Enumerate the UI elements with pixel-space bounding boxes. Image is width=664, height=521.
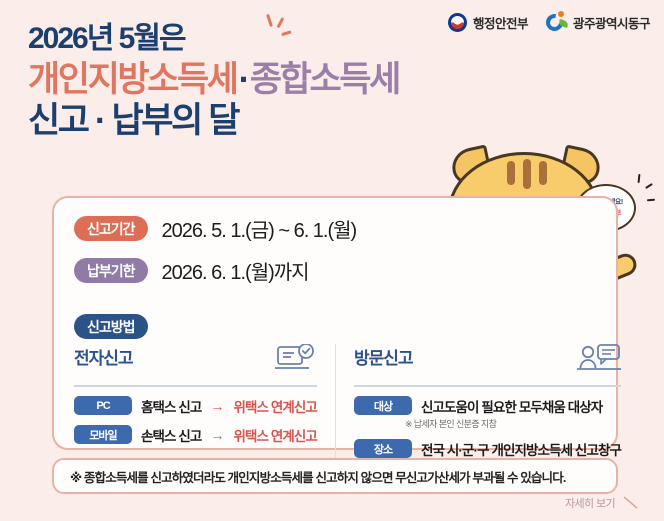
person-speech-icon xyxy=(577,344,621,379)
arrow-right-icon: → xyxy=(210,428,224,442)
filing-text-pc: 홈택스 신고 xyxy=(141,396,201,416)
filing-row-pc: PC 홈택스 신고 → 위택스 연계신고 xyxy=(74,396,317,416)
arrow-diagonal-icon xyxy=(622,496,642,510)
schedule-label-period: 신고기간 xyxy=(74,216,148,241)
filing-badge-mobile: 모바일 xyxy=(74,425,132,444)
filing-text-mobile: 손택스 신고 xyxy=(141,425,201,445)
filing-row-mobile: 모바일 손택스 신고 → 위택스 연계신고 xyxy=(74,425,317,445)
headline-tax-local: 개인지방소득세 xyxy=(28,60,237,99)
gwangju-donggu-logo-icon xyxy=(546,12,567,33)
visit-row-target: 대상 신고도움이 필요한 모두채움 대상자 ※ 납세자 본인 신분증 지참 xyxy=(354,396,621,430)
logo-moi: 행정안전부 xyxy=(448,13,528,32)
column-title-visit: 방문신고 xyxy=(354,344,413,369)
column-visit-filing: 방문신고 xyxy=(335,344,621,459)
info-card: 신고기간 2026. 5. 1.(금) ~ 6. 1.(월) 납부기한 2026… xyxy=(52,196,618,450)
logo-bar: 행정안전부 광주광역시동구 xyxy=(448,12,650,33)
visit-text-target: 신고도움이 필요한 모두채움 대상자 xyxy=(421,396,602,416)
logo-moi-label: 행정안전부 xyxy=(473,13,528,32)
moi-taegeuk-logo-icon xyxy=(448,13,467,32)
filing-text-mobile-target: 위택스 연계신고 xyxy=(233,425,317,445)
headline-tax-global: 종합소득세 xyxy=(250,60,399,99)
schedule-list: 신고기간 2026. 5. 1.(금) ~ 6. 1.(월) 납부기한 2026… xyxy=(74,214,356,285)
headline-line-1: 2026년 5월은 xyxy=(28,24,399,54)
headline-line-2: 개인지방소득세·종합소득세 xyxy=(28,60,399,99)
arrow-right-icon: → xyxy=(210,399,224,413)
footer-note-text: ※ 종합소득세를 신고하였더라도 개인지방소득세를 신고하지 않으면 무신고가산… xyxy=(70,467,565,486)
schedule-row-deadline: 납부기한 2026. 6. 1.(월)까지 xyxy=(74,256,356,285)
headline-separator: · xyxy=(237,60,250,99)
headline-block: 2026년 5월은 개인지방소득세·종합소득세 신고 · 납부의 달 xyxy=(28,24,399,140)
poster-root: 행정안전부 광주광역시동구 2026년 5월은 개인지방소득세·종합소득세 신고… xyxy=(0,0,664,521)
logo-gwangju-label: 광주광역시동구 xyxy=(573,13,650,32)
logo-gwangju-donggu: 광주광역시동구 xyxy=(546,12,650,33)
column-title-electronic: 전자신고 xyxy=(74,344,133,369)
schedule-label-deadline: 납부기한 xyxy=(74,258,148,283)
schedule-value-period: 2026. 5. 1.(금) ~ 6. 1.(월) xyxy=(162,214,357,243)
visit-text-place: 전국 시·군·구 개인지방소득세 신고창구 xyxy=(421,439,621,459)
column-electronic-filing: 전자신고 PC xyxy=(74,344,317,459)
monitor-check-icon xyxy=(275,344,317,379)
visit-badge-target: 대상 xyxy=(354,396,412,415)
visit-row-place: 장소 전국 시·군·구 개인지방소득세 신고창구 xyxy=(354,439,621,459)
sparkle-decoration-icon xyxy=(258,14,292,44)
filing-badge-pc: PC xyxy=(74,396,132,415)
schedule-value-deadline: 2026. 6. 1.(월)까지 xyxy=(162,256,309,285)
visit-note-id: ※ 납세자 본인 신분증 지참 xyxy=(405,417,621,430)
method-section-label: 신고방법 xyxy=(74,314,148,339)
visit-badge-place: 장소 xyxy=(354,439,412,458)
more-link[interactable]: 자세히 보기 xyxy=(565,495,642,511)
filing-text-pc-target: 위택스 연계신고 xyxy=(233,396,317,416)
method-columns: 전자신고 PC xyxy=(74,344,598,459)
headline-line-3: 신고 · 납부의 달 xyxy=(28,101,399,140)
schedule-row-period: 신고기간 2026. 5. 1.(금) ~ 6. 1.(월) xyxy=(74,214,356,243)
more-link-label: 자세히 보기 xyxy=(565,495,615,511)
footer-note-box: ※ 종합소득세를 신고하였더라도 개인지방소득세를 신고하지 않으면 무신고가산… xyxy=(52,458,618,494)
